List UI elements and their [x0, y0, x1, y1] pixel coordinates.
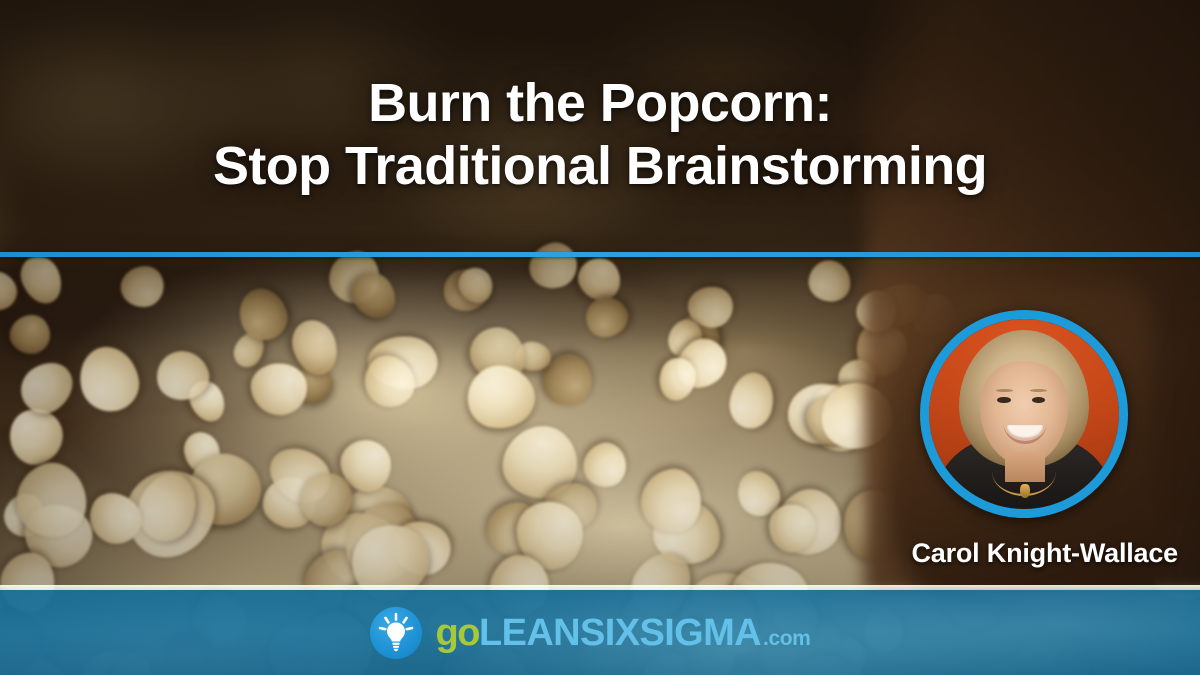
accent-divider	[0, 252, 1200, 257]
wordmark-leansixsigma: LEANSIXSIGMA	[479, 614, 761, 652]
wordmark-go: go	[436, 614, 479, 652]
banner-image: Burn the Popcorn: Stop Traditional Brain…	[0, 0, 1200, 675]
brand-wordmark: goLEANSIXSIGMA.com	[436, 614, 811, 652]
footer-bar: goLEANSIXSIGMA.com	[0, 590, 1200, 675]
wordmark-tld: .com	[763, 628, 810, 649]
title-line-2: Stop Traditional Brainstorming	[14, 135, 1186, 198]
avatar	[920, 310, 1128, 518]
lightbulb-icon	[370, 607, 422, 659]
author-byline: Carol Knight-Wallace	[911, 538, 1178, 569]
banner-title: Burn the Popcorn: Stop Traditional Brain…	[0, 72, 1200, 197]
avatar-photo	[929, 319, 1119, 509]
brand-logo[interactable]: goLEANSIXSIGMA.com	[370, 607, 811, 659]
avatar-pendant	[1020, 484, 1030, 497]
title-line-1: Burn the Popcorn:	[14, 72, 1186, 135]
